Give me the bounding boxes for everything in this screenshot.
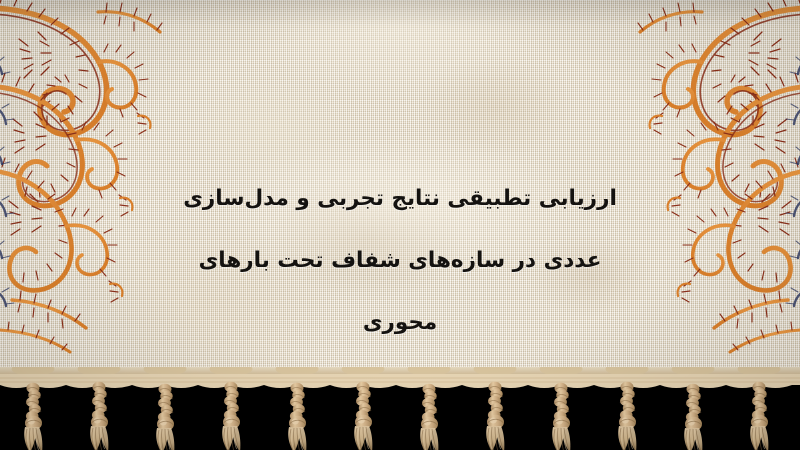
slide-title: ارزیابی تطبیقی نتایج تجربی و مدل‌سازی عد…	[150, 152, 650, 369]
title-slide: ارزیابی تطبیقی نتایج تجربی و مدل‌سازی عد…	[0, 0, 800, 450]
title-line-2: عددی در سازه‌های شفاف تحت بارهای	[150, 245, 650, 276]
textile-panel: ارزیابی تطبیقی نتایج تجربی و مدل‌سازی عد…	[0, 0, 800, 383]
title-line-3: محوری	[150, 307, 650, 338]
tassel-fringe	[0, 374, 800, 450]
title-line-1: ارزیابی تطبیقی نتایج تجربی و مدل‌سازی	[150, 183, 650, 214]
